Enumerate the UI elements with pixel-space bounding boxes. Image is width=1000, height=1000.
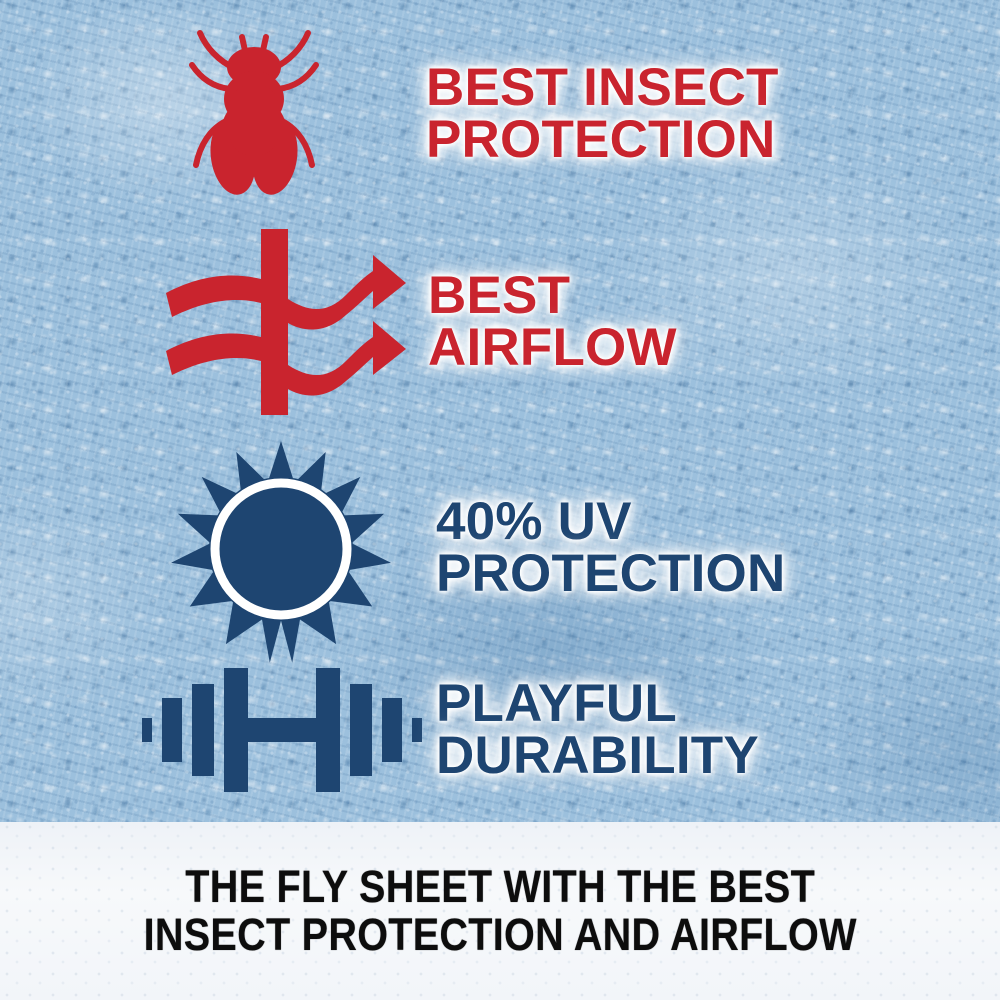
- footer-banner: THE FLY SHEET WITH THE BEST INSECT PROTE…: [0, 822, 1000, 1000]
- feature-label-durability: PLAYFUL DURABILITY: [436, 678, 759, 783]
- feature-row-airflow: BEST AIRFLOW: [160, 222, 1000, 422]
- feature-label-insect-protection: BEST INSECT PROTECTION: [426, 62, 779, 167]
- product-feature-infographic: BEST INSECT PROTECTION BEST AIRFLOW: [0, 0, 1000, 1000]
- feature-row-uv-protection: 40% UV PROTECTION: [170, 438, 1000, 658]
- footer-headline: THE FLY SHEET WITH THE BEST INSECT PROTE…: [143, 863, 856, 958]
- feature-label-uv-protection: 40% UV PROTECTION: [436, 496, 785, 601]
- airflow-arrows-icon: [160, 229, 410, 415]
- dumbbell-icon: [140, 660, 424, 800]
- fly-icon: [178, 25, 330, 203]
- feature-label-airflow: BEST AIRFLOW: [428, 270, 677, 375]
- feature-row-durability: PLAYFUL DURABILITY: [140, 650, 1000, 810]
- feature-row-insect-protection: BEST INSECT PROTECTION: [178, 16, 998, 212]
- sun-icon: [170, 439, 392, 657]
